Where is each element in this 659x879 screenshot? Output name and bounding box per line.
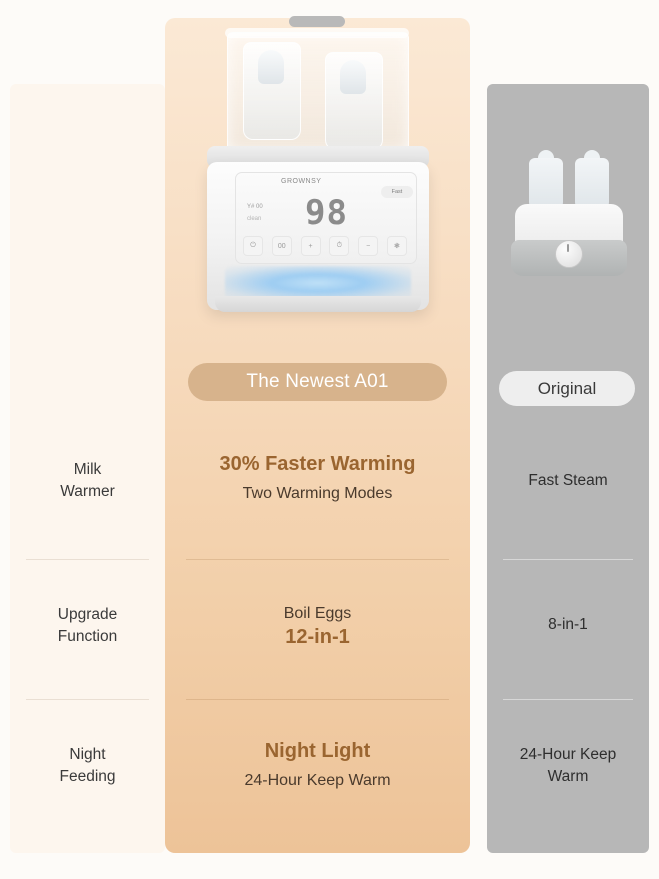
original-bottle-left [529, 158, 563, 210]
right-row-3-line-2: Warm [487, 766, 649, 787]
badge-newest-a01: The Newest A01 [188, 363, 447, 401]
night-light-glow [225, 266, 411, 300]
right-row-3-line-1: 24-Hour Keep [487, 744, 649, 765]
right-row-1-line-1: Fast Steam [487, 470, 649, 491]
minus-button[interactable]: − [358, 236, 378, 256]
lid-handle [289, 16, 345, 27]
divider-right-2 [503, 699, 633, 700]
new-a01-product-image: GROWNSY Fast Y# 00 clean 98 ⏻ 00 + ⏱ − ❃ [185, 14, 450, 334]
original-knob-indicator [567, 244, 569, 252]
left-row-1-line-2: Warmer [10, 481, 165, 502]
badge-original: Original [499, 371, 635, 406]
center-row-2-headline: 12-in-1 [165, 624, 470, 650]
divider-center-1 [186, 559, 449, 560]
original-bottle-right [575, 158, 609, 210]
center-row-1-headline: 30% Faster Warming [165, 451, 470, 477]
left-row-2-line-2: Function [10, 626, 165, 647]
left-row-2-line-1: Upgrade [10, 604, 165, 625]
control-button-row[interactable]: ⏻ 00 + ⏱ − ❃ [243, 236, 407, 254]
brand-logo: GROWNSY [281, 178, 321, 185]
divider-left-1 [26, 559, 149, 560]
center-row-1-subline: Two Warming Modes [165, 482, 470, 506]
panel-mini-bottom-label: clean [247, 216, 261, 222]
center-row-3-headline: Night Light [165, 738, 470, 764]
comparison-infographic: GROWNSY Fast Y# 00 clean 98 ⏻ 00 + ⏱ − ❃… [0, 0, 659, 879]
bottle-nipple-right [340, 60, 366, 94]
divider-right-1 [503, 559, 633, 560]
warmer-base [215, 296, 421, 312]
left-row-3-line-1: Night [10, 744, 165, 765]
left-row-1-line-1: Milk [10, 459, 165, 480]
right-row-2-line-1: 8-in-1 [487, 614, 649, 635]
original-product-image [503, 148, 635, 294]
center-row-3-subline: 24-Hour Keep Warm [165, 769, 470, 793]
power-button[interactable]: ⏻ [243, 236, 263, 256]
display-value: 98 [305, 196, 348, 230]
panel-mini-top-label: Y# 00 [247, 204, 263, 210]
plus-button[interactable]: + [301, 236, 321, 256]
mode-button[interactable]: 00 [272, 236, 292, 256]
bottle-nipple-left [258, 50, 284, 84]
original-knob [555, 240, 583, 268]
left-row-3-line-2: Feeding [10, 766, 165, 787]
light-button[interactable]: ❃ [387, 236, 407, 256]
divider-center-2 [186, 699, 449, 700]
center-row-2-subline: Boil Eggs [165, 602, 470, 626]
timer-button[interactable]: ⏱ [329, 236, 349, 256]
fast-mode-indicator: Fast [381, 186, 413, 198]
original-warmer-top [515, 204, 623, 244]
divider-left-2 [26, 699, 149, 700]
